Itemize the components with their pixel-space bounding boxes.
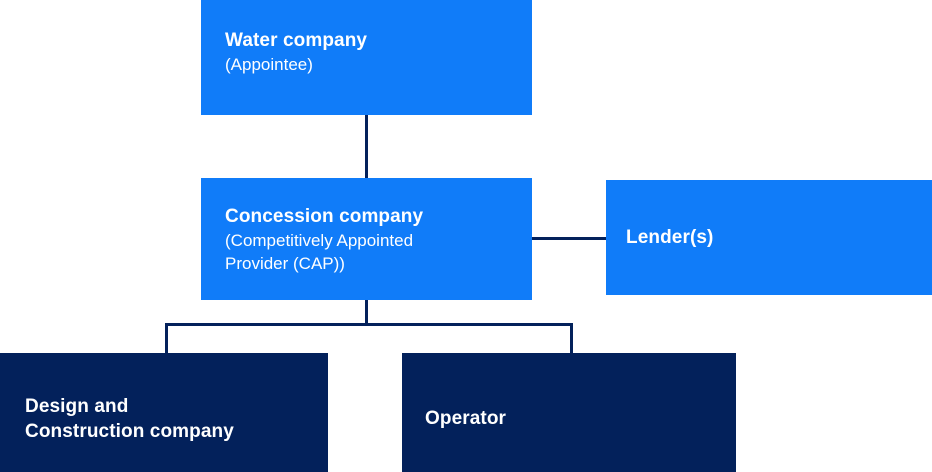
connector-water-company-to-concession-company [365,114,368,179]
connector-branch-horizontal-bar [165,323,573,326]
org-structure-diagram: Water company (Appointee) Concession com… [0,0,932,472]
connector-branch-to-design-construction-company [165,323,168,355]
connector-concession-company-stem [365,299,368,325]
node-water-company: Water company (Appointee) [201,0,532,115]
node-concession-company-subtitle: (Competitively Appointed Provider (CAP)) [225,229,520,275]
node-design-and-construction-company-title: Design and Construction company [25,394,316,444]
node-operator: Operator [402,353,736,472]
node-lender: Lender(s) [606,180,932,295]
node-operator-title: Operator [425,406,724,431]
node-water-company-subtitle: (Appointee) [225,53,520,76]
node-concession-company: Concession company (Competitively Appoin… [201,178,532,300]
node-design-and-construction-company: Design and Construction company [0,353,328,472]
node-lender-title: Lender(s) [626,225,932,250]
node-water-company-title: Water company [225,28,520,53]
connector-concession-company-to-lender [532,237,607,240]
connector-branch-to-operator [570,323,573,355]
node-concession-company-title: Concession company [225,204,520,229]
